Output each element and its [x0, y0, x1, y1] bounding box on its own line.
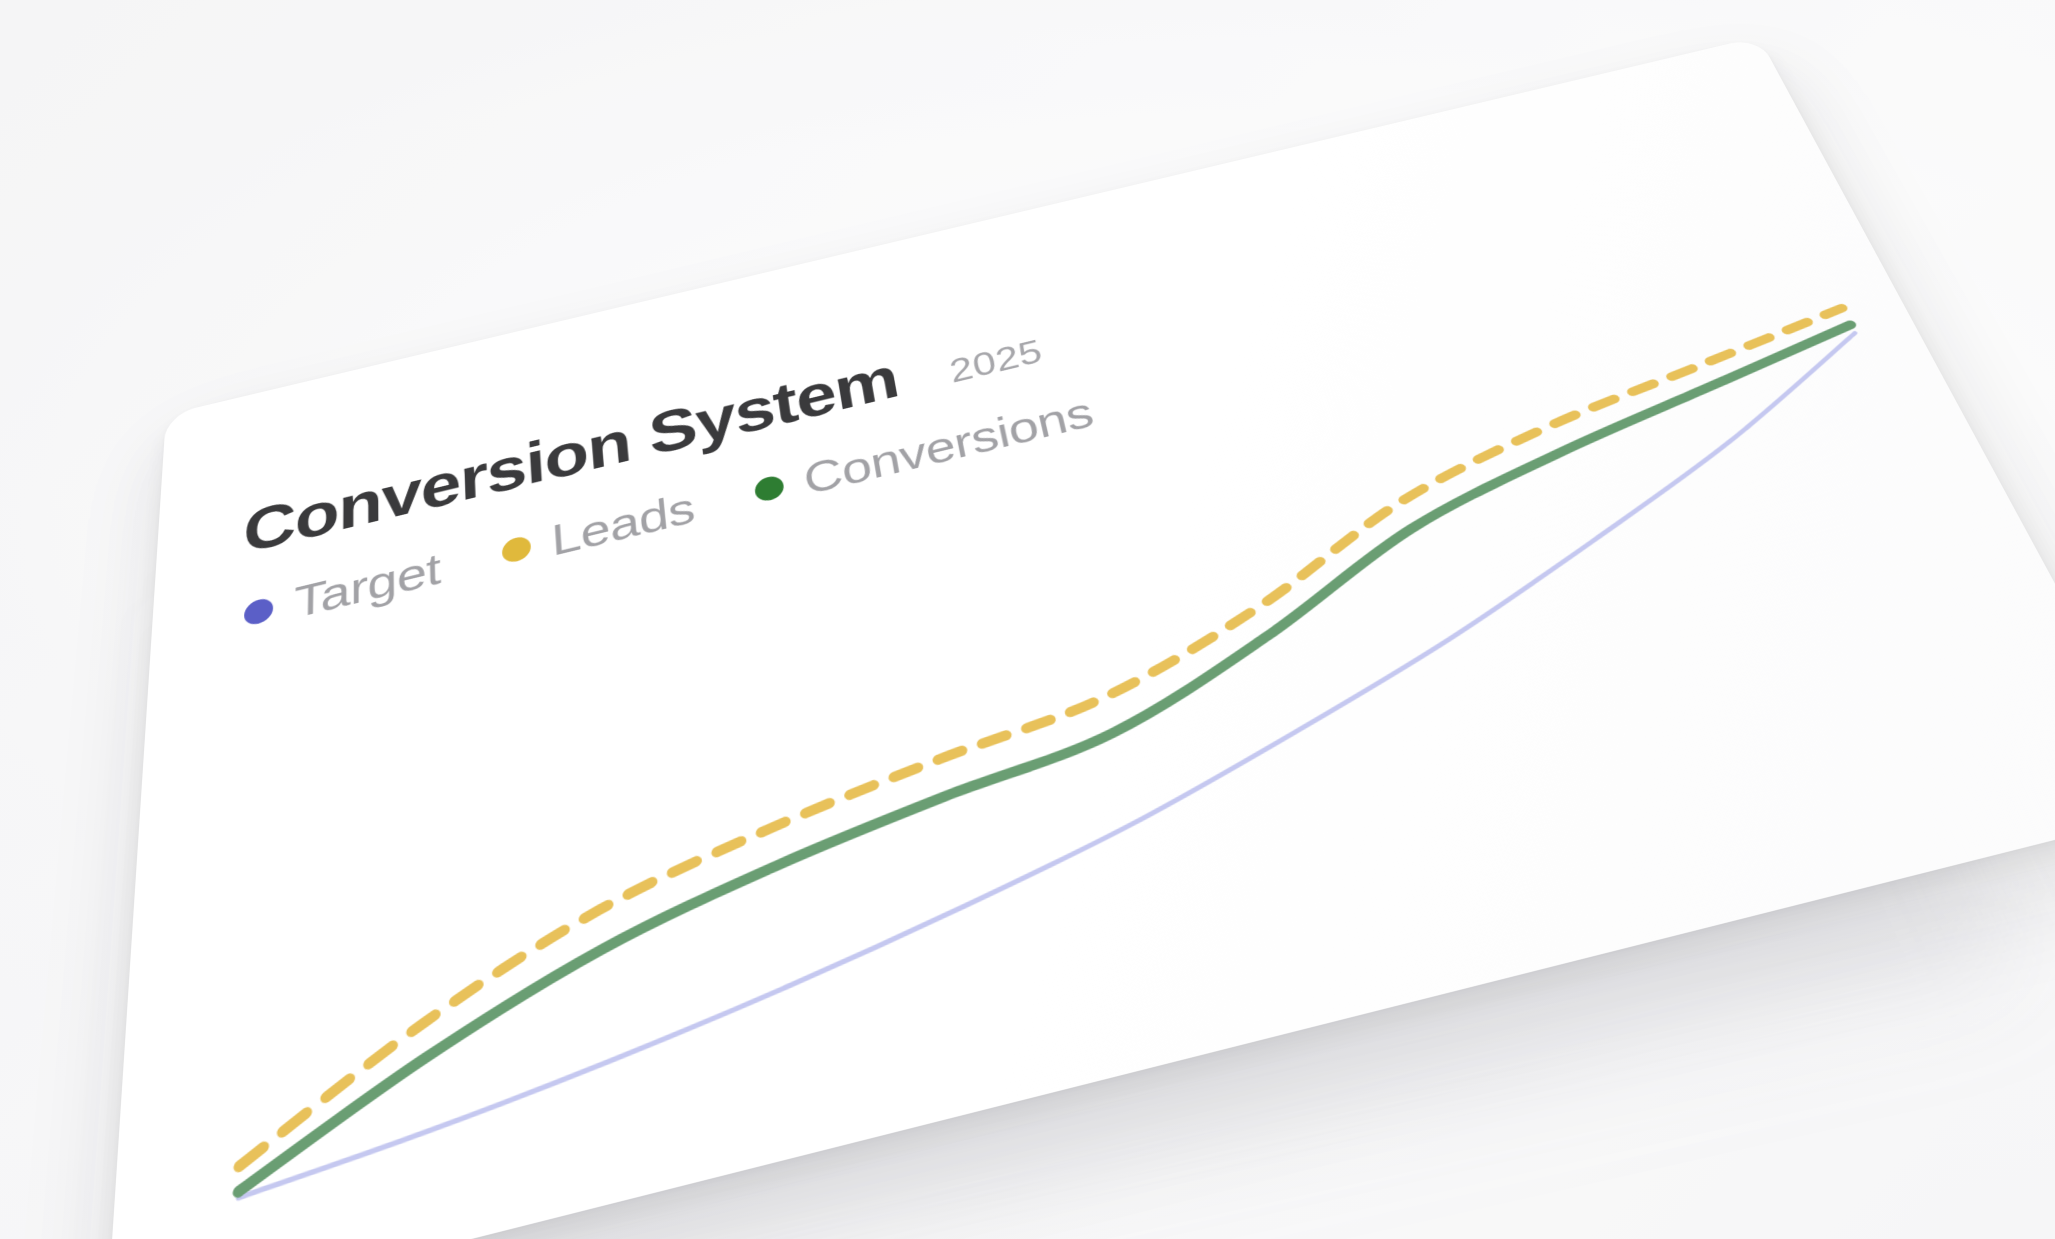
legend-dot-conversions: [753, 474, 784, 504]
legend-label-leads: Leads: [550, 485, 696, 563]
year-label: 2025: [947, 335, 1046, 388]
legend-dot-leads: [501, 535, 531, 565]
perspective-stage: Conversion System 2025 Target Leads Conv…: [0, 0, 2055, 1239]
dashboard-card[interactable]: Conversion System 2025 Target Leads Conv…: [106, 37, 2055, 1239]
legend-dot-target: [244, 596, 274, 627]
scene-backdrop: Conversion System 2025 Target Leads Conv…: [0, 0, 2055, 1239]
card-header: Conversion System 2025: [242, 165, 1684, 563]
legend-label-target: Target: [294, 546, 441, 626]
